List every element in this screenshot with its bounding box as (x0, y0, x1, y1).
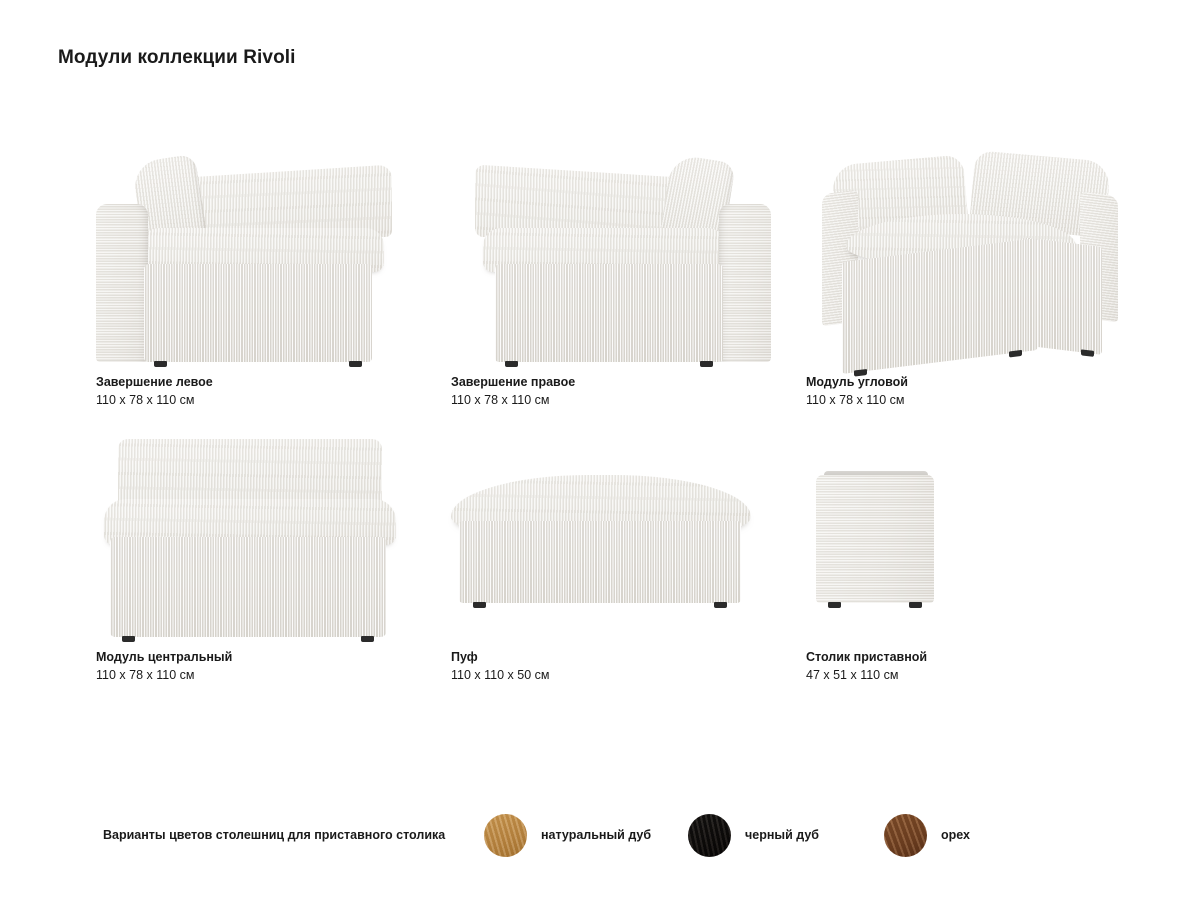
module-caption: Модуль центральный 110 x 78 x 110 см (96, 649, 416, 684)
foot-icon (361, 636, 374, 642)
module-dimensions: 110 x 78 x 110 см (451, 392, 771, 409)
module-caption: Завершение левое 110 x 78 x 110 см (96, 374, 416, 409)
module-dimensions: 110 x 110 x 50 см (451, 667, 771, 684)
module-image-end-left (96, 140, 416, 370)
module-row: Завершение левое 110 x 78 x 110 см (58, 140, 1148, 415)
foot-icon (1009, 350, 1022, 358)
table-body (816, 475, 934, 603)
armrest-right (719, 204, 771, 362)
module-caption: Завершение правое 110 x 78 x 110 см (451, 374, 771, 409)
module-dimensions: 110 x 78 x 110 см (96, 392, 416, 409)
module-image-ottoman (451, 415, 771, 645)
sofa-base (495, 264, 723, 362)
module-caption: Пуф 110 x 110 x 50 см (451, 649, 771, 684)
foot-icon (700, 361, 713, 367)
foot-icon (1081, 349, 1094, 357)
sofa-base (110, 537, 386, 637)
module-name: Столик приставной (806, 649, 1126, 665)
foot-icon (154, 361, 167, 367)
side-table-illustration (816, 463, 938, 603)
ottoman-base (459, 521, 741, 603)
module-row: Модуль центральный 110 x 78 x 110 см (58, 415, 1148, 690)
sofa-end-right-illustration (451, 157, 771, 362)
sofa-end-left-illustration (96, 157, 416, 362)
foot-icon (349, 361, 362, 367)
sofa-base (144, 264, 372, 362)
swatch-label: черный дуб (745, 828, 819, 842)
module-name: Пуф (451, 649, 771, 665)
module-image-side-table (806, 415, 1126, 645)
module-card-center[interactable]: Модуль центральный 110 x 78 x 110 см (58, 415, 413, 690)
swatch-natural-oak-icon[interactable] (484, 814, 527, 857)
module-dimensions: 110 x 78 x 110 см (806, 392, 1126, 409)
catalog-page: Модули коллекции Rivoli (0, 0, 1200, 900)
module-card-side-table[interactable]: Столик приставной 47 x 51 x 110 см (768, 415, 1123, 690)
module-name: Завершение левое (96, 374, 416, 390)
armrest-left (96, 204, 148, 362)
sofa-center-illustration (104, 432, 404, 637)
foot-icon (828, 602, 841, 608)
foot-icon (505, 361, 518, 367)
sofa-corner-illustration (806, 150, 1126, 362)
swatch-label: натуральный дуб (541, 828, 651, 842)
ottoman-illustration (451, 463, 751, 603)
module-caption: Модуль угловой 110 x 78 x 110 см (806, 374, 1126, 409)
module-image-center (96, 415, 416, 645)
module-name: Модуль центральный (96, 649, 416, 665)
swatch-option-black-oak[interactable]: черный дуб (688, 814, 819, 857)
module-image-end-right (451, 140, 771, 370)
module-name: Модуль угловой (806, 374, 1126, 390)
swatch-black-oak-icon[interactable] (688, 814, 731, 857)
module-name: Завершение правое (451, 374, 771, 390)
module-dimensions: 47 x 51 x 110 см (806, 667, 1126, 684)
foot-icon (122, 636, 135, 642)
foot-icon (909, 602, 922, 608)
module-card-end-left[interactable]: Завершение левое 110 x 78 x 110 см (58, 140, 413, 415)
foot-icon (473, 602, 486, 608)
page-title: Модули коллекции Rivoli (58, 47, 296, 69)
module-card-ottoman[interactable]: Пуф 110 x 110 x 50 см (413, 415, 768, 690)
swatch-walnut-icon[interactable] (884, 814, 927, 857)
module-image-corner (806, 140, 1126, 370)
color-legend: Варианты цветов столешниц для приставног… (0, 805, 1200, 865)
module-dimensions: 110 x 78 x 110 см (96, 667, 416, 684)
module-caption: Столик приставной 47 x 51 x 110 см (806, 649, 1126, 684)
module-card-corner[interactable]: Модуль угловой 110 x 78 x 110 см (768, 140, 1123, 415)
foot-icon (714, 602, 727, 608)
module-grid: Завершение левое 110 x 78 x 110 см (58, 140, 1148, 690)
swatch-label: орех (941, 828, 970, 842)
legend-label: Варианты цветов столешниц для приставног… (103, 828, 445, 842)
module-card-end-right[interactable]: Завершение правое 110 x 78 x 110 см (413, 140, 768, 415)
swatch-option-natural-oak[interactable]: натуральный дуб (484, 814, 651, 857)
swatch-option-walnut[interactable]: орех (884, 814, 970, 857)
sofa-base-front (842, 238, 1038, 374)
